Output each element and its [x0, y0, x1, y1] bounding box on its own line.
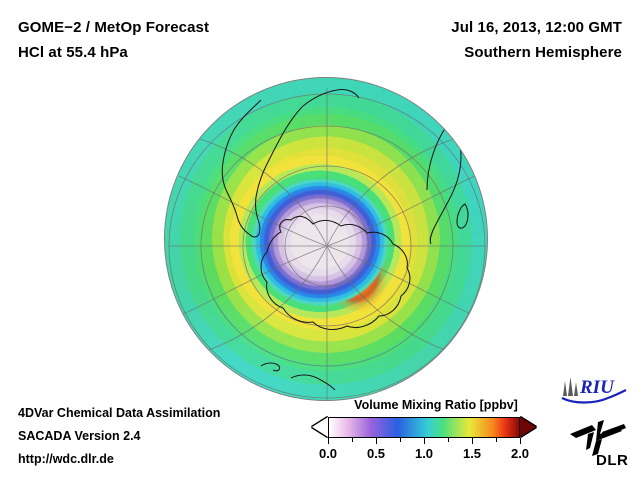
colorbar-tick-label: 1.5 — [463, 446, 481, 461]
colorbar-minor-tick — [352, 438, 353, 442]
riu-tower-icon — [563, 377, 578, 396]
colorbar-minor-tick — [448, 438, 449, 442]
coastline-south-america-east — [303, 89, 359, 106]
colorbar-low-extend-arrow — [312, 417, 328, 437]
dlr-logo: DLR — [566, 414, 628, 468]
globe-disc — [164, 77, 488, 401]
version-label: SACADA Version 2.4 — [18, 429, 141, 443]
riu-logo: RIU — [560, 374, 628, 404]
colorbar-tick-label: 0.0 — [319, 446, 337, 461]
colorbar — [312, 417, 536, 438]
colorbar-tick-label: 2.0 — [511, 446, 529, 461]
map-overlay — [165, 78, 488, 401]
coastline-madagascar — [457, 204, 468, 228]
method-label: 4DVar Chemical Data Assimilation — [18, 406, 220, 420]
datetime-label: Jul 16, 2013, 12:00 GMT — [451, 19, 622, 36]
colorbar-major-tick — [424, 438, 425, 444]
polar-projection-map — [164, 77, 488, 401]
colorbar-minor-tick — [400, 438, 401, 442]
coastline-south-america — [222, 100, 303, 237]
dlr-mark-icon — [570, 420, 626, 456]
colorbar-major-tick — [520, 438, 521, 444]
colorbar-tick-label: 0.5 — [367, 446, 385, 461]
coastline-tasmania — [261, 363, 280, 371]
colorbar-ticks — [328, 438, 520, 444]
colorbar-title: Volume Mixing Ratio [ppbv] — [336, 398, 536, 412]
colorbar-major-tick — [328, 438, 329, 444]
coastline-africa-west — [427, 120, 451, 190]
website-link[interactable]: http://wdc.dlr.de — [18, 452, 114, 466]
coastline-australia — [291, 375, 335, 390]
dlr-wordmark: DLR — [596, 452, 628, 468]
colorbar-minor-tick — [496, 438, 497, 442]
colorbar-tick-label: 1.0 — [415, 446, 433, 461]
species-level-subtitle: HCl at 55.4 hPa — [18, 44, 128, 61]
instrument-title: GOME−2 / MetOp Forecast — [18, 19, 209, 36]
colorbar-high-extend-arrow — [520, 417, 536, 437]
riu-wordmark: RIU — [579, 377, 615, 398]
colorbar-major-tick — [472, 438, 473, 444]
colorbar-tick-labels: 0.00.51.01.52.0 — [298, 446, 550, 466]
hemisphere-label: Southern Hemisphere — [464, 44, 622, 61]
colorbar-major-tick — [376, 438, 377, 444]
colorbar-gradient — [328, 417, 520, 438]
